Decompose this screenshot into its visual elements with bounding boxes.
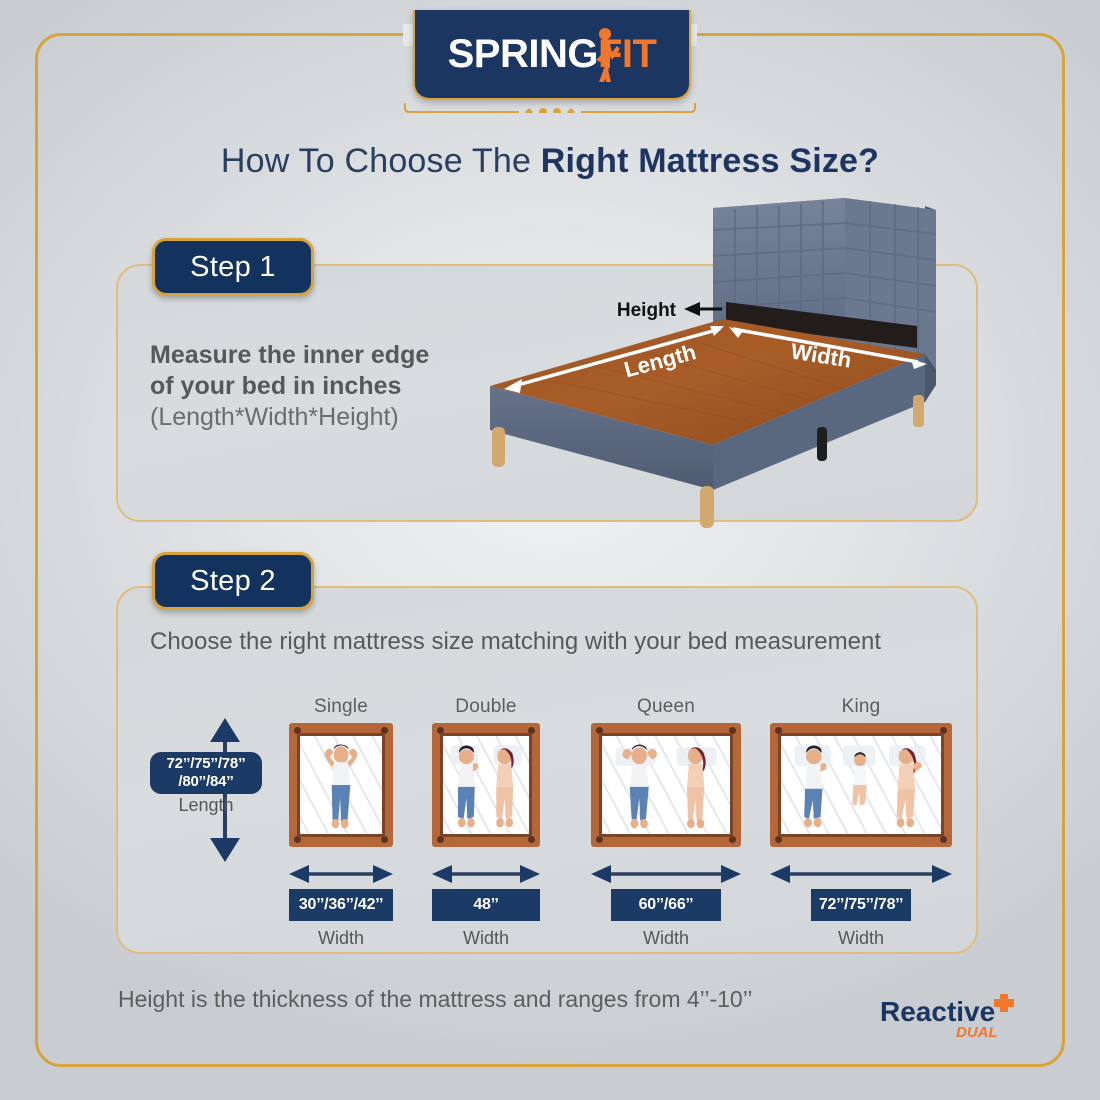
mattress-frame-single — [289, 723, 393, 847]
bed-illustration: Length Width Height — [470, 190, 980, 530]
logo-underline-ornament — [403, 99, 697, 113]
mattress-surface-king — [778, 733, 944, 837]
rivet-icon — [775, 836, 782, 843]
rivet-icon — [596, 836, 603, 843]
step1-instruction: Measure the inner edge of your bed in in… — [150, 340, 480, 433]
step2-description: Choose the right mattress size matching … — [150, 626, 890, 658]
brand-logo-badge: SPRINGFIT — [413, 10, 691, 100]
footer-note: Height is the thickness of the mattress … — [118, 986, 753, 1013]
mattress-surface-single — [297, 733, 385, 837]
step1-line3: (Length*Width*Height) — [150, 402, 480, 433]
infographic-page: SPRINGFIT How To Choose The Right Mattre… — [0, 0, 1100, 1100]
mattress-frame-king — [770, 723, 952, 847]
size-card-queen[interactable]: Queen — [591, 696, 741, 949]
brand-logo-text: SPRINGFIT — [448, 34, 657, 74]
size-card-double[interactable]: Double — [432, 696, 540, 949]
step2-badge: Step 2 — [152, 552, 314, 610]
width-value-queen: 60’’/66’’ — [611, 889, 721, 921]
logo-primary-text: SPRING — [448, 32, 598, 76]
sleeper-figures-double — [443, 736, 529, 834]
mattress-surface-queen — [599, 733, 733, 837]
puzzle-plus-icon — [994, 994, 1014, 1012]
rivet-icon — [940, 836, 947, 843]
dual-wordmark: DUAL — [956, 1024, 998, 1040]
rivet-icon — [528, 836, 535, 843]
step1-line1: Measure the inner edge — [150, 340, 480, 371]
rivet-icon — [437, 836, 444, 843]
size-title-single: Single — [289, 696, 393, 718]
rivet-icon — [381, 836, 388, 843]
rivet-icon — [729, 836, 736, 843]
size-card-single[interactable]: Single — [289, 696, 393, 949]
sleeper-figure-single — [300, 736, 382, 834]
running-figure-icon — [586, 26, 620, 82]
length-value-line2: /80’’/84’’ — [178, 773, 233, 791]
reactive-dual-logo: Reactive DUAL — [880, 992, 1060, 1040]
size-title-double: Double — [432, 696, 540, 718]
sleeper-figures-queen — [602, 736, 730, 834]
width-label-double: Width — [432, 928, 540, 949]
width-arrow-queen — [591, 861, 741, 887]
width-arrow-single — [289, 861, 393, 887]
page-title-bold: Right Mattress Size? — [541, 142, 879, 180]
reactive-wordmark: Reactive — [880, 996, 995, 1027]
length-axis-label: Length — [150, 795, 262, 816]
page-title: How To Choose The Right Mattress Size? — [0, 142, 1100, 181]
length-value-badge: 72’’/75’’/78’’ /80’’/84’’ — [150, 752, 262, 794]
width-label-queen: Width — [591, 928, 741, 949]
width-label-king: Width — [770, 928, 952, 949]
page-title-regular: How To Choose The — [221, 142, 541, 180]
width-label-single: Width — [289, 928, 393, 949]
mattress-surface-double — [440, 733, 532, 837]
sleeper-figures-king — [781, 736, 941, 834]
size-card-king[interactable]: King — [770, 696, 952, 949]
width-arrow-double — [432, 861, 540, 887]
length-value-line1: 72’’/75’’/78’’ — [167, 755, 246, 773]
step1-line2: of your bed in inches — [150, 371, 480, 402]
width-value-king: 72’’/75’’/78’’ — [811, 889, 911, 921]
width-value-single: 30’’/36’’/42’’ — [289, 889, 393, 921]
width-value-double: 48’’ — [432, 889, 540, 921]
size-title-king: King — [770, 696, 952, 718]
mattress-frame-double — [432, 723, 540, 847]
rivet-icon — [294, 836, 301, 843]
step1-badge: Step 1 — [152, 238, 314, 296]
size-title-queen: Queen — [591, 696, 741, 718]
bed-height-label: Height — [617, 300, 677, 321]
mattress-frame-queen — [591, 723, 741, 847]
width-arrow-king — [770, 861, 952, 887]
